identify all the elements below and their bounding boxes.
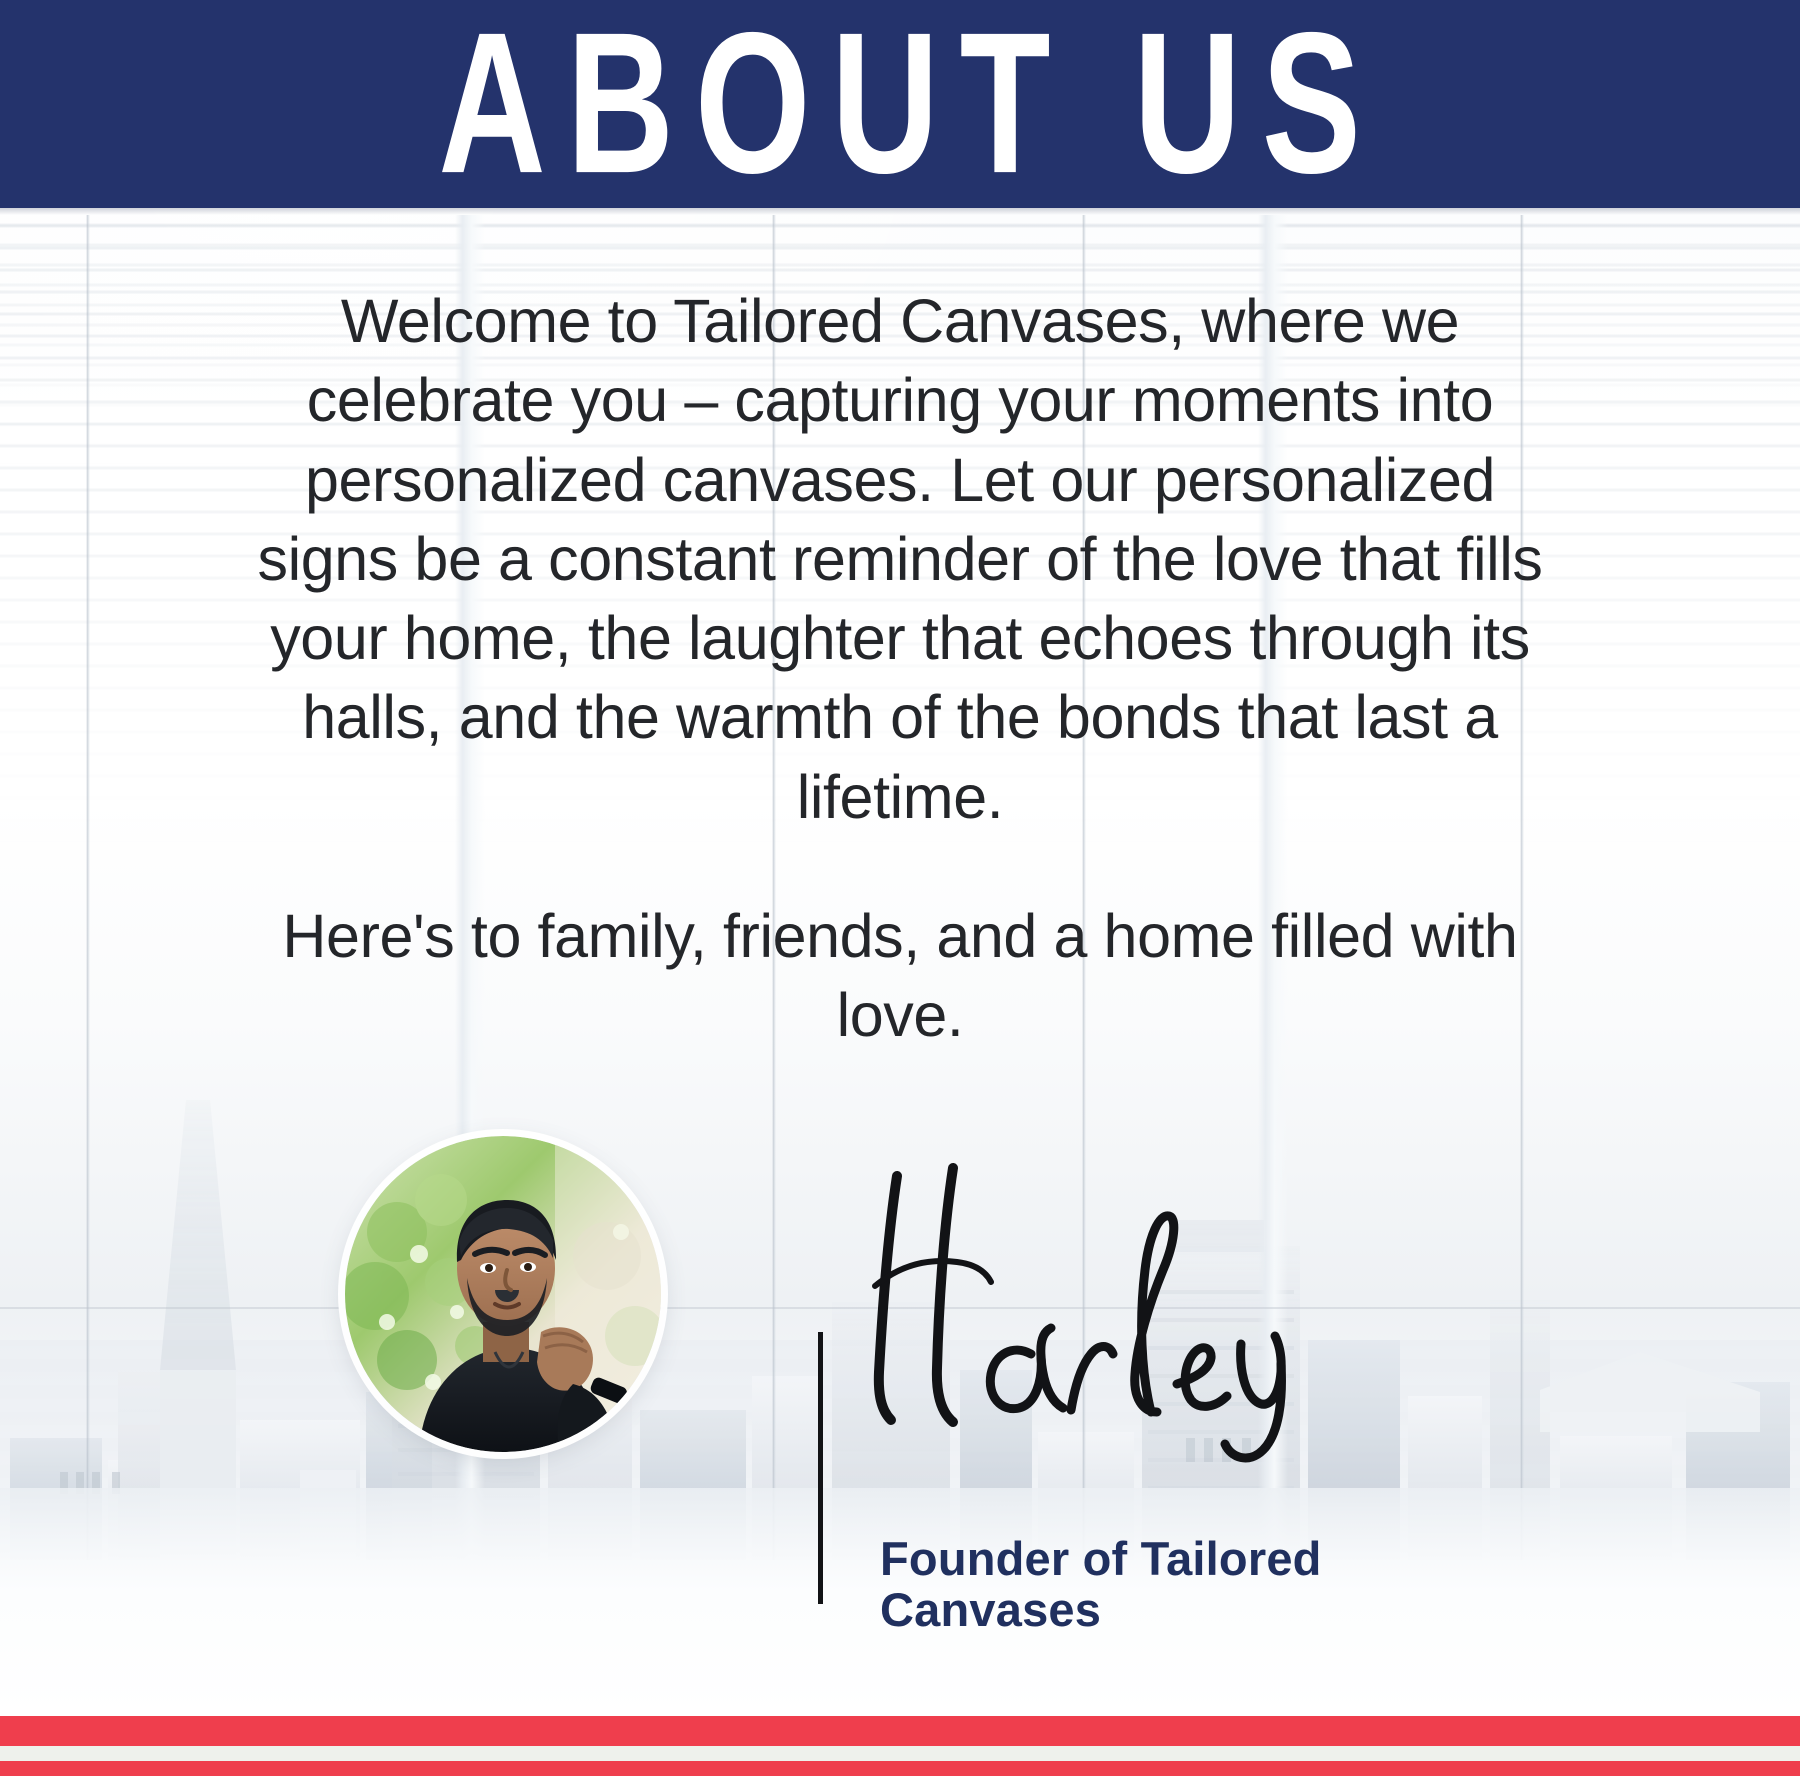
mullion-1 (86, 215, 90, 1560)
footer-stripe-bottom (0, 1761, 1800, 1776)
founder-role-line-1: Founder of Tailored (880, 1534, 1500, 1585)
founder-role: Founder of Tailored Canvases (880, 1534, 1500, 1636)
signature-divider (818, 1332, 823, 1604)
about-us-poster: ABOUT US Welcome to Tailored Canvases, w… (0, 0, 1800, 1776)
paragraph-2: Here's to family, friends, and a home fi… (240, 897, 1560, 1056)
paragraph-spacer (240, 837, 1560, 897)
avatar (345, 1136, 661, 1452)
footer-stripe-top (0, 1716, 1800, 1746)
page-title: ABOUT US (418, 12, 1382, 197)
paragraph-1: Welcome to Tailored Canvases, where we c… (240, 282, 1560, 837)
founder-role-line-2: Canvases (880, 1585, 1500, 1636)
about-us-body-text: Welcome to Tailored Canvases, where we c… (240, 282, 1560, 1056)
header-banner: ABOUT US (0, 0, 1800, 208)
footer-stripe-gap (0, 1746, 1800, 1761)
mullion-horizontal (0, 1307, 1800, 1309)
